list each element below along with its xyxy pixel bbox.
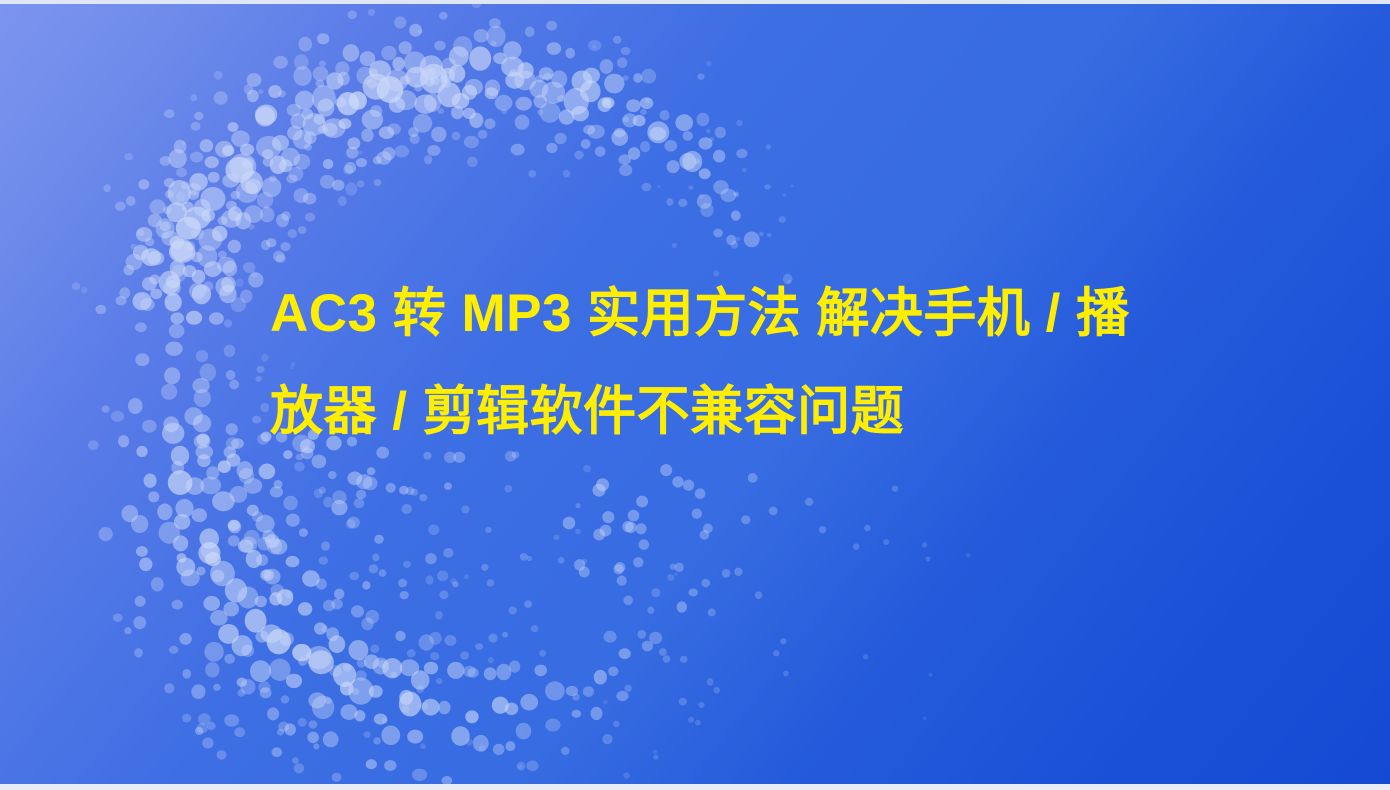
slide-canvas: AC3 转 MP3 实用方法 解决手机 / 播放器 / 剪辑软件不兼容问题 [0, 0, 1390, 790]
top-edge-strip [0, 0, 1390, 4]
slide-title: AC3 转 MP3 实用方法 解决手机 / 播放器 / 剪辑软件不兼容问题 [270, 265, 1150, 461]
headline-container: AC3 转 MP3 实用方法 解决手机 / 播放器 / 剪辑软件不兼容问题 [270, 265, 1150, 461]
bottom-edge-strip [0, 784, 1390, 790]
